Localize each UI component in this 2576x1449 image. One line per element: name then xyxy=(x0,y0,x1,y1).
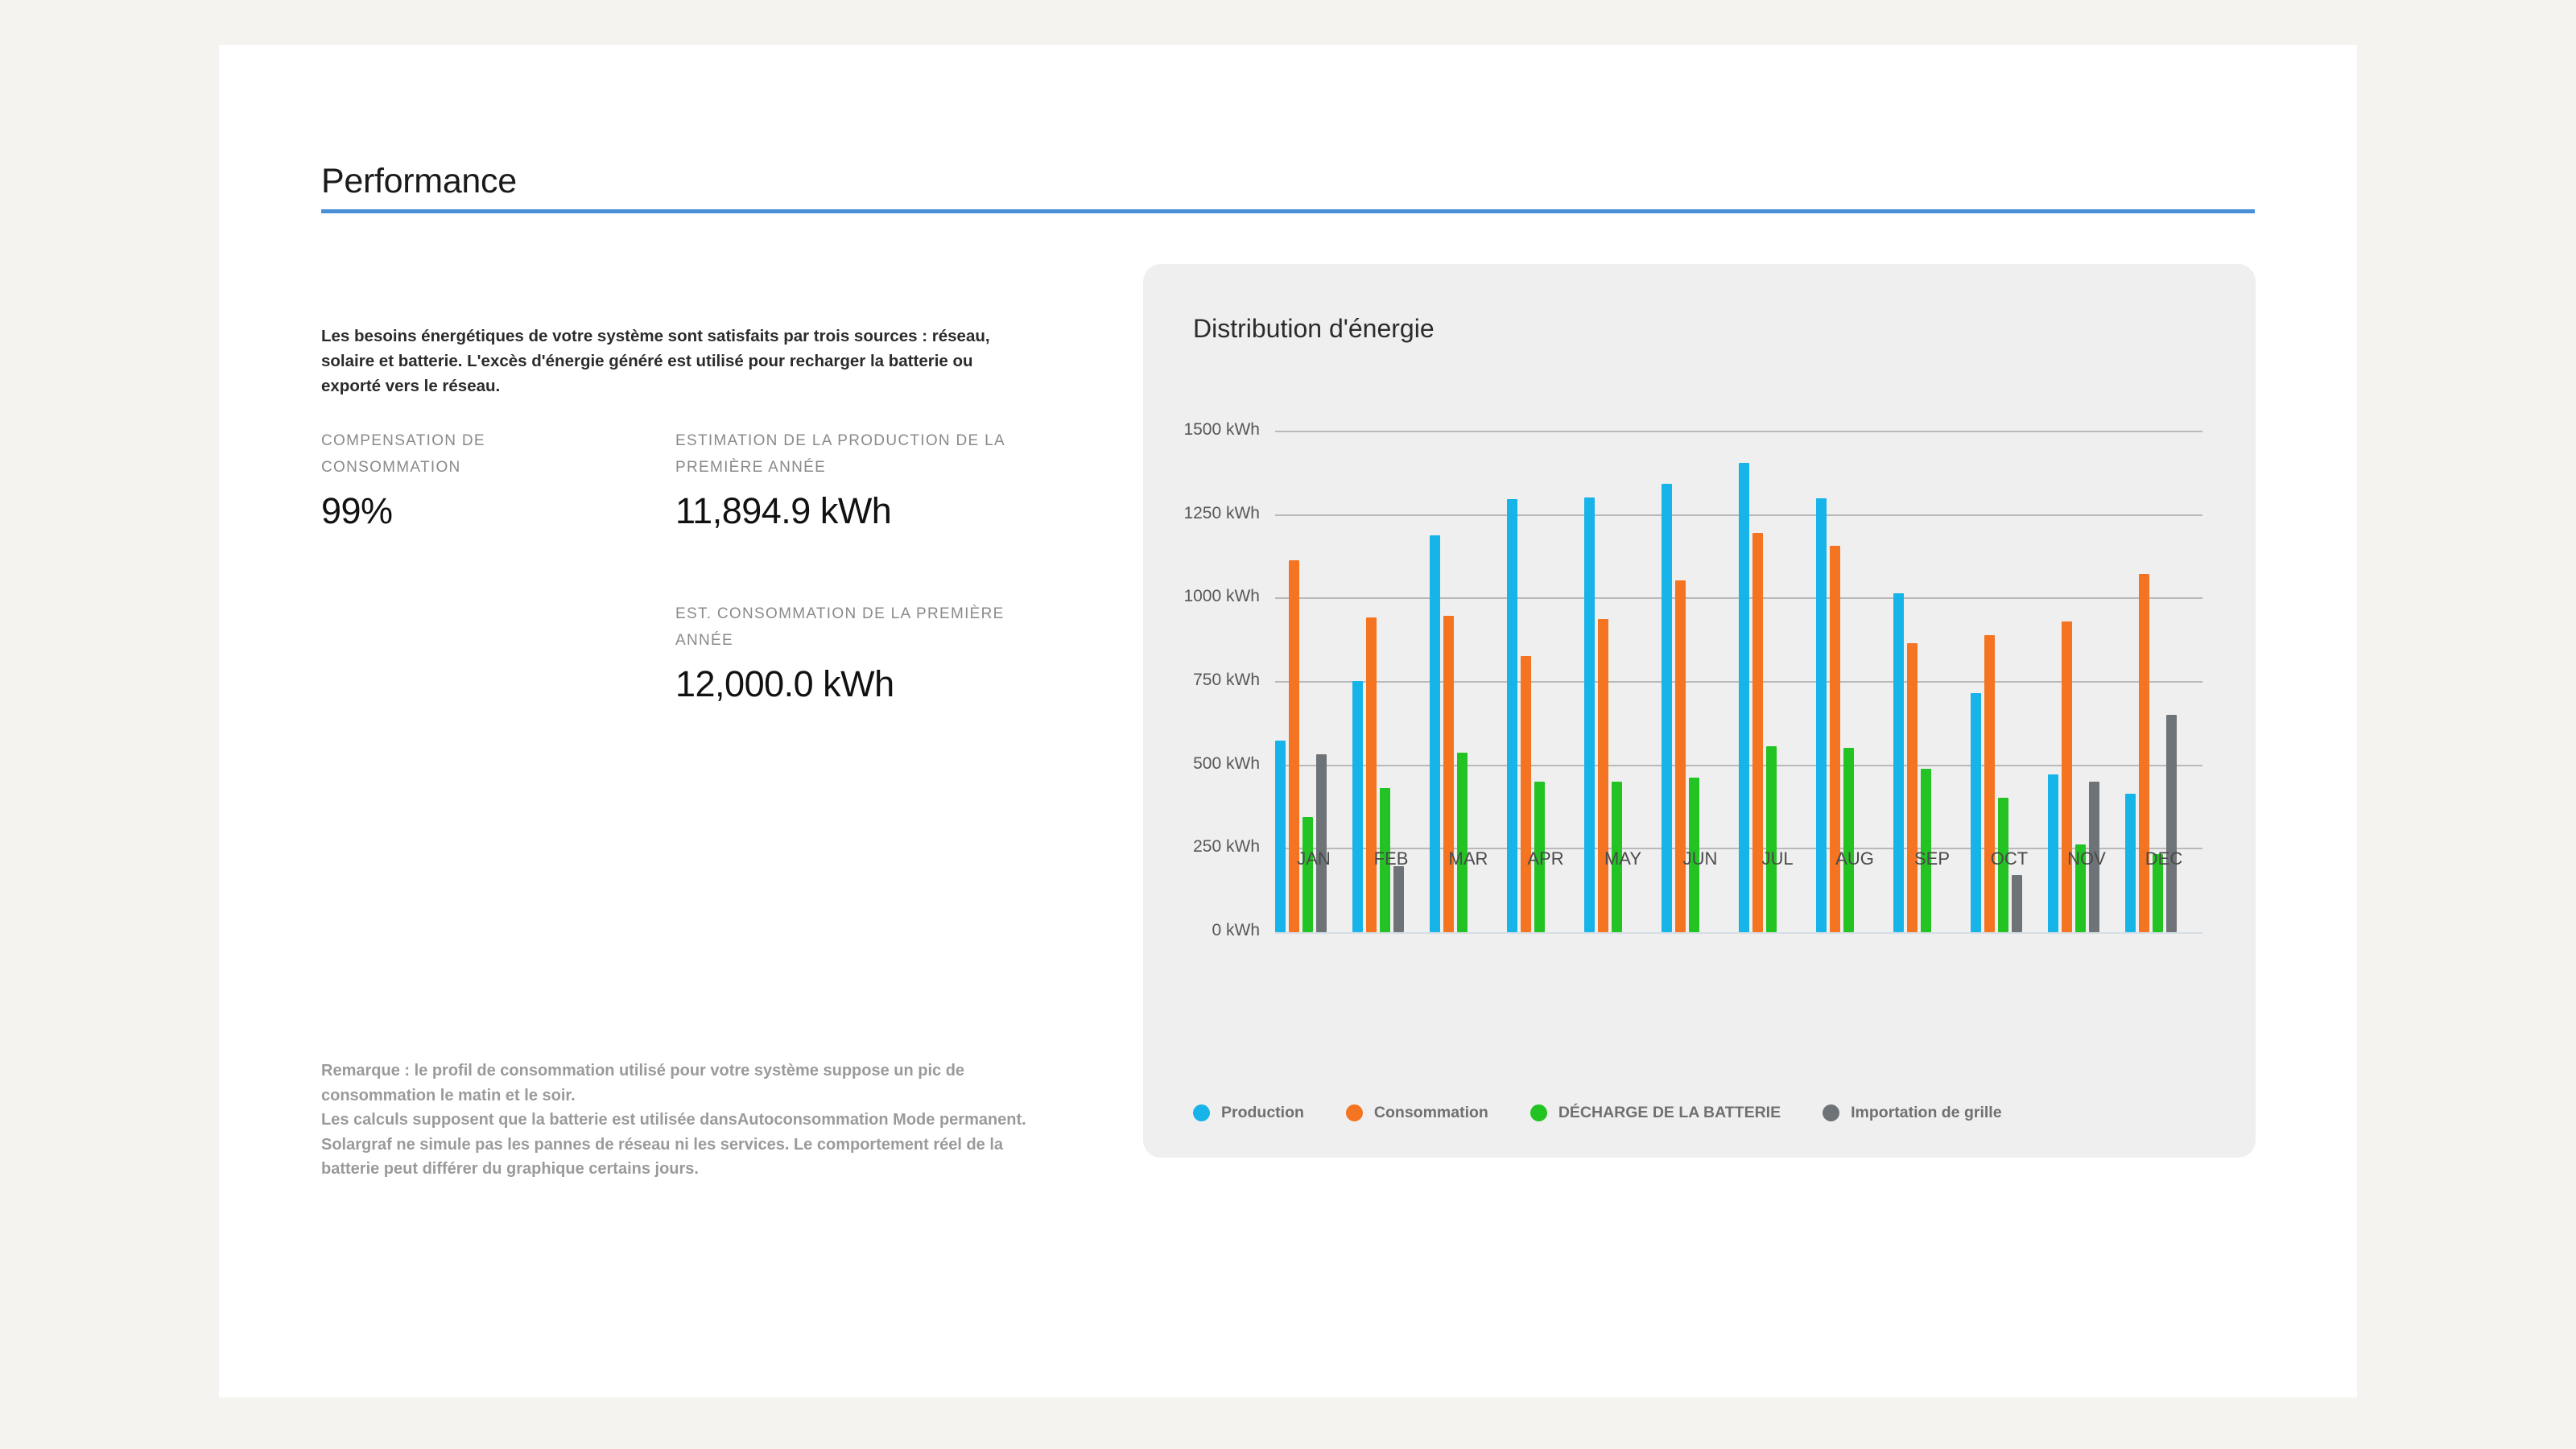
legend-item[interactable]: Consommation xyxy=(1346,1104,1488,1122)
stat-consumption-offset: COMPENSATION DE CONSOMMATION 99% xyxy=(321,427,587,532)
bar[interactable] xyxy=(1457,753,1468,932)
bar[interactable] xyxy=(1352,681,1363,932)
bar[interactable] xyxy=(1443,616,1454,932)
stat-value: 99% xyxy=(321,490,587,532)
bar[interactable] xyxy=(2012,875,2022,932)
bar[interactable] xyxy=(2062,621,2072,932)
bar[interactable] xyxy=(1907,643,1918,932)
stat-first-year-consumption: EST. CONSOMMATION DE LA PREMIÈRE ANNÉE 1… xyxy=(675,601,1030,705)
legend-label: Importation de grille xyxy=(1851,1104,2001,1122)
y-axis-tick-label: 500 kWh xyxy=(1143,754,1260,774)
document-page: Performance Les besoins énergétiques de … xyxy=(219,45,2357,1397)
title-divider xyxy=(321,209,2255,213)
page-title: Performance xyxy=(321,162,517,201)
legend-swatch-icon xyxy=(1823,1104,1839,1121)
bar[interactable] xyxy=(1366,617,1377,932)
legend-swatch-icon xyxy=(1346,1104,1363,1121)
bar[interactable] xyxy=(1598,619,1608,932)
y-axis-tick-label: 250 kWh xyxy=(1143,837,1260,857)
bar[interactable] xyxy=(1752,533,1763,932)
legend-item[interactable]: DÉCHARGE DE LA BATTERIE xyxy=(1530,1104,1781,1122)
bar[interactable] xyxy=(1893,593,1904,932)
footnote-line-2: Les calculs supposent que la batterie es… xyxy=(321,1108,1030,1182)
y-axis-tick-label: 0 kWh xyxy=(1143,921,1260,940)
bar[interactable] xyxy=(1971,693,1981,932)
bar[interactable] xyxy=(1984,635,1995,932)
footnote: Remarque : le profil de consommation uti… xyxy=(321,1059,1030,1182)
stat-first-year-production: ESTIMATION DE LA PRODUCTION DE LA PREMIÈ… xyxy=(675,427,1030,532)
stat-label: COMPENSATION DE CONSOMMATION xyxy=(321,427,587,481)
stat-value: 11,894.9 kWh xyxy=(675,490,1030,532)
chart-plot-area: 0 kWh250 kWh500 kWh750 kWh1000 kWh1250 k… xyxy=(1143,391,2256,1035)
y-axis-tick-label: 1500 kWh xyxy=(1143,420,1260,440)
chart-baseline xyxy=(1275,932,2202,934)
bar[interactable] xyxy=(1675,580,1686,932)
bar[interactable] xyxy=(1393,866,1404,932)
energy-distribution-card: Distribution d'énergie 0 kWh250 kWh500 k… xyxy=(1143,264,2256,1158)
bar[interactable] xyxy=(1316,754,1327,932)
bar[interactable] xyxy=(1830,546,1840,932)
bar[interactable] xyxy=(1275,741,1286,932)
x-axis-tick-label: DEC xyxy=(2114,848,2214,869)
bar[interactable] xyxy=(2166,715,2177,932)
stat-label: ESTIMATION DE LA PRODUCTION DE LA PREMIÈ… xyxy=(675,427,1030,481)
intro-paragraph: Les besoins énergétiques de votre systèm… xyxy=(321,324,1009,398)
y-axis-tick-label: 1000 kWh xyxy=(1143,587,1260,606)
bar[interactable] xyxy=(1302,817,1313,932)
legend-swatch-icon xyxy=(1530,1104,1547,1121)
bar[interactable] xyxy=(1766,746,1777,932)
legend-label: Production xyxy=(1221,1104,1304,1122)
bar[interactable] xyxy=(1289,560,1299,932)
bar[interactable] xyxy=(1430,535,1440,932)
chart-legend: ProductionConsommationDÉCHARGE DE LA BAT… xyxy=(1193,1104,2044,1122)
stat-label: EST. CONSOMMATION DE LA PREMIÈRE ANNÉE xyxy=(675,601,1030,654)
bar[interactable] xyxy=(2139,574,2149,932)
legend-label: DÉCHARGE DE LA BATTERIE xyxy=(1558,1104,1781,1122)
legend-item[interactable]: Production xyxy=(1193,1104,1304,1122)
footnote-line-1: Remarque : le profil de consommation uti… xyxy=(321,1059,1030,1108)
chart-title: Distribution d'énergie xyxy=(1193,314,1435,344)
bar[interactable] xyxy=(1521,656,1531,932)
bar-group: DEC xyxy=(2125,431,2202,932)
legend-swatch-icon xyxy=(1193,1104,1210,1121)
y-axis-tick-label: 750 kWh xyxy=(1143,671,1260,690)
stat-value: 12,000.0 kWh xyxy=(675,663,1030,705)
y-axis-tick-label: 1250 kWh xyxy=(1143,504,1260,523)
legend-item[interactable]: Importation de grille xyxy=(1823,1104,2001,1122)
bar[interactable] xyxy=(1843,748,1854,932)
legend-label: Consommation xyxy=(1374,1104,1488,1122)
